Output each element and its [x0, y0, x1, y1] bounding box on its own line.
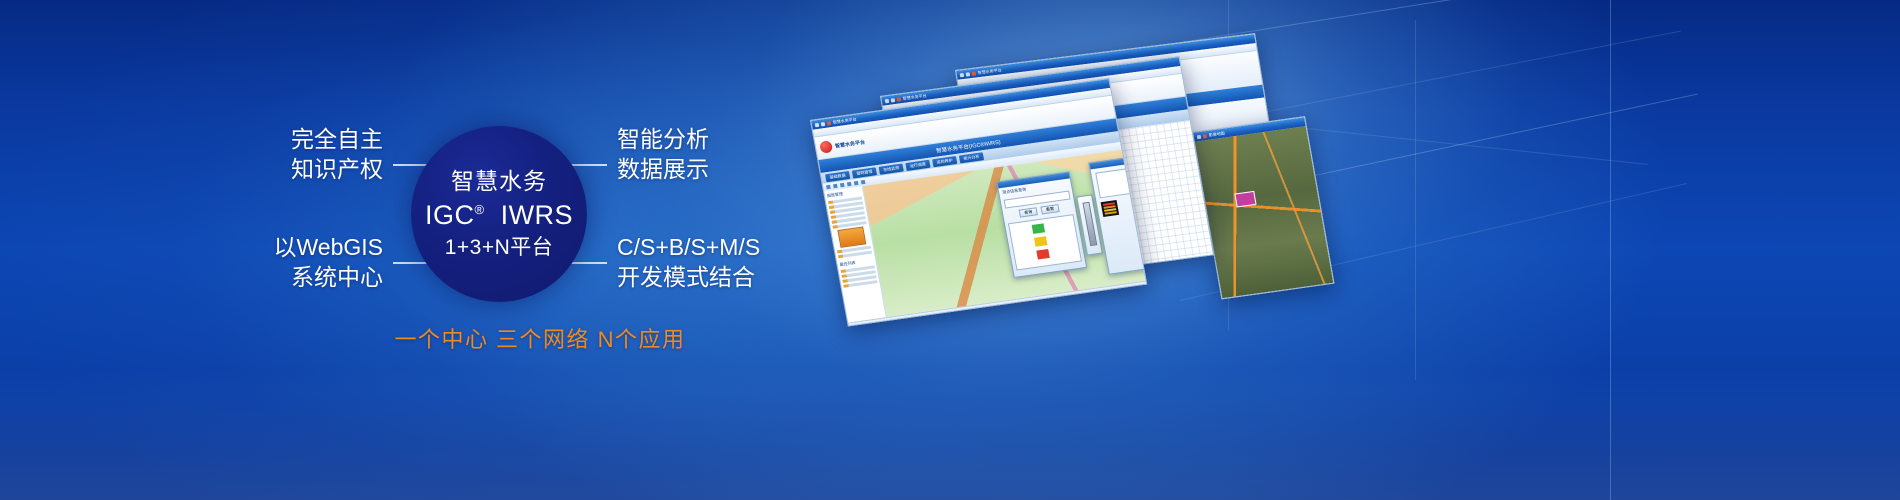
hub-chinese-name: 智慧水务 — [451, 170, 547, 193]
close-icon[interactable] — [971, 71, 976, 75]
water-drop-logo-icon — [819, 140, 833, 153]
map-tool-measure-icon[interactable] — [854, 181, 859, 185]
satellite-map-canvas[interactable] — [1195, 126, 1334, 298]
app-window-satellite[interactable]: 影像地图 — [1192, 116, 1334, 299]
map-tool-identify-icon[interactable] — [861, 180, 866, 184]
legend-swatch-gold — [1105, 211, 1117, 215]
map-tool-select-icon[interactable] — [847, 182, 852, 186]
map-tool-pan-icon[interactable] — [826, 185, 831, 189]
maximize-icon[interactable] — [891, 98, 896, 102]
label-bottom-right: C/S+B/S+M/S 开发模式结合 — [617, 232, 857, 293]
map-selection-box — [1234, 191, 1256, 208]
minimize-icon[interactable] — [960, 72, 965, 76]
label-top-right: 智能分析 数据展示 — [617, 124, 837, 185]
maximize-icon[interactable] — [965, 72, 970, 76]
label-top-left-line2: 知识产权 — [183, 154, 383, 184]
label-bottom-left: 以WebGIS 系统中心 — [183, 232, 383, 293]
app-window-front[interactable]: 智慧水务平台 智慧水务平台 智慧水务平台(IGC®IWRS) 基础数据 管网管理… — [810, 78, 1147, 327]
label-bottom-right-line1: C/S+B/S+M/S — [617, 232, 857, 262]
grid-line-vertical-mid — [1415, 20, 1416, 380]
pie-panel-legend — [1101, 200, 1120, 217]
label-bottom-right-line2: 开发模式结合 — [617, 262, 857, 292]
banner-root: 智慧水务 IGC® IWRS 1+3+N平台 完全自主 知识产权 智能分析 数据… — [0, 0, 1900, 500]
status-indicator-green — [1032, 223, 1046, 234]
floor-sheen — [0, 370, 1900, 500]
grid-line-vertical-right — [1610, 0, 1611, 500]
hub-product-iwrs: IWRS — [501, 200, 574, 230]
maximize-icon[interactable] — [821, 121, 826, 125]
hub-product-name: IGC® IWRS — [425, 202, 573, 229]
label-top-right-line2: 数据展示 — [617, 154, 837, 184]
grid-line-diagonal-top — [1180, 0, 1694, 43]
map-tool-zoomin-icon[interactable] — [833, 184, 838, 188]
registered-mark-icon: ® — [474, 202, 484, 217]
center-hub: 智慧水务 IGC® IWRS 1+3+N平台 — [411, 126, 587, 302]
brand-text-front: 智慧水务平台 — [834, 138, 865, 149]
label-bottom-left-line1: 以WebGIS — [183, 232, 383, 262]
map-tool-zoomout-icon[interactable] — [840, 183, 845, 187]
minimize-icon[interactable] — [1197, 134, 1202, 138]
zoom-slider[interactable] — [1082, 202, 1097, 246]
label-top-left-line1: 完全自主 — [183, 124, 383, 154]
tagline: 一个中心 三个网络 N个应用 — [330, 322, 750, 354]
status-indicator-yellow — [1034, 236, 1048, 247]
dialog-result-table — [1008, 214, 1082, 270]
dialog-query-button[interactable]: 查询 — [1019, 207, 1038, 217]
status-indicator-red — [1036, 249, 1050, 260]
minimize-icon[interactable] — [885, 98, 890, 102]
close-icon[interactable] — [1203, 133, 1208, 137]
hub-platform-label: 1+3+N平台 — [445, 237, 554, 258]
label-bottom-left-line2: 系统中心 — [183, 262, 383, 292]
minimize-icon[interactable] — [815, 122, 820, 126]
close-icon[interactable] — [826, 121, 831, 125]
hub-product-igc: IGC — [425, 200, 475, 230]
close-icon[interactable] — [896, 97, 901, 101]
dialog-reset-button[interactable]: 重置 — [1040, 204, 1059, 214]
label-top-left: 完全自主 知识产权 — [183, 124, 383, 185]
label-top-right-line1: 智能分析 — [617, 124, 837, 154]
layer-legend-swatch — [837, 227, 866, 248]
